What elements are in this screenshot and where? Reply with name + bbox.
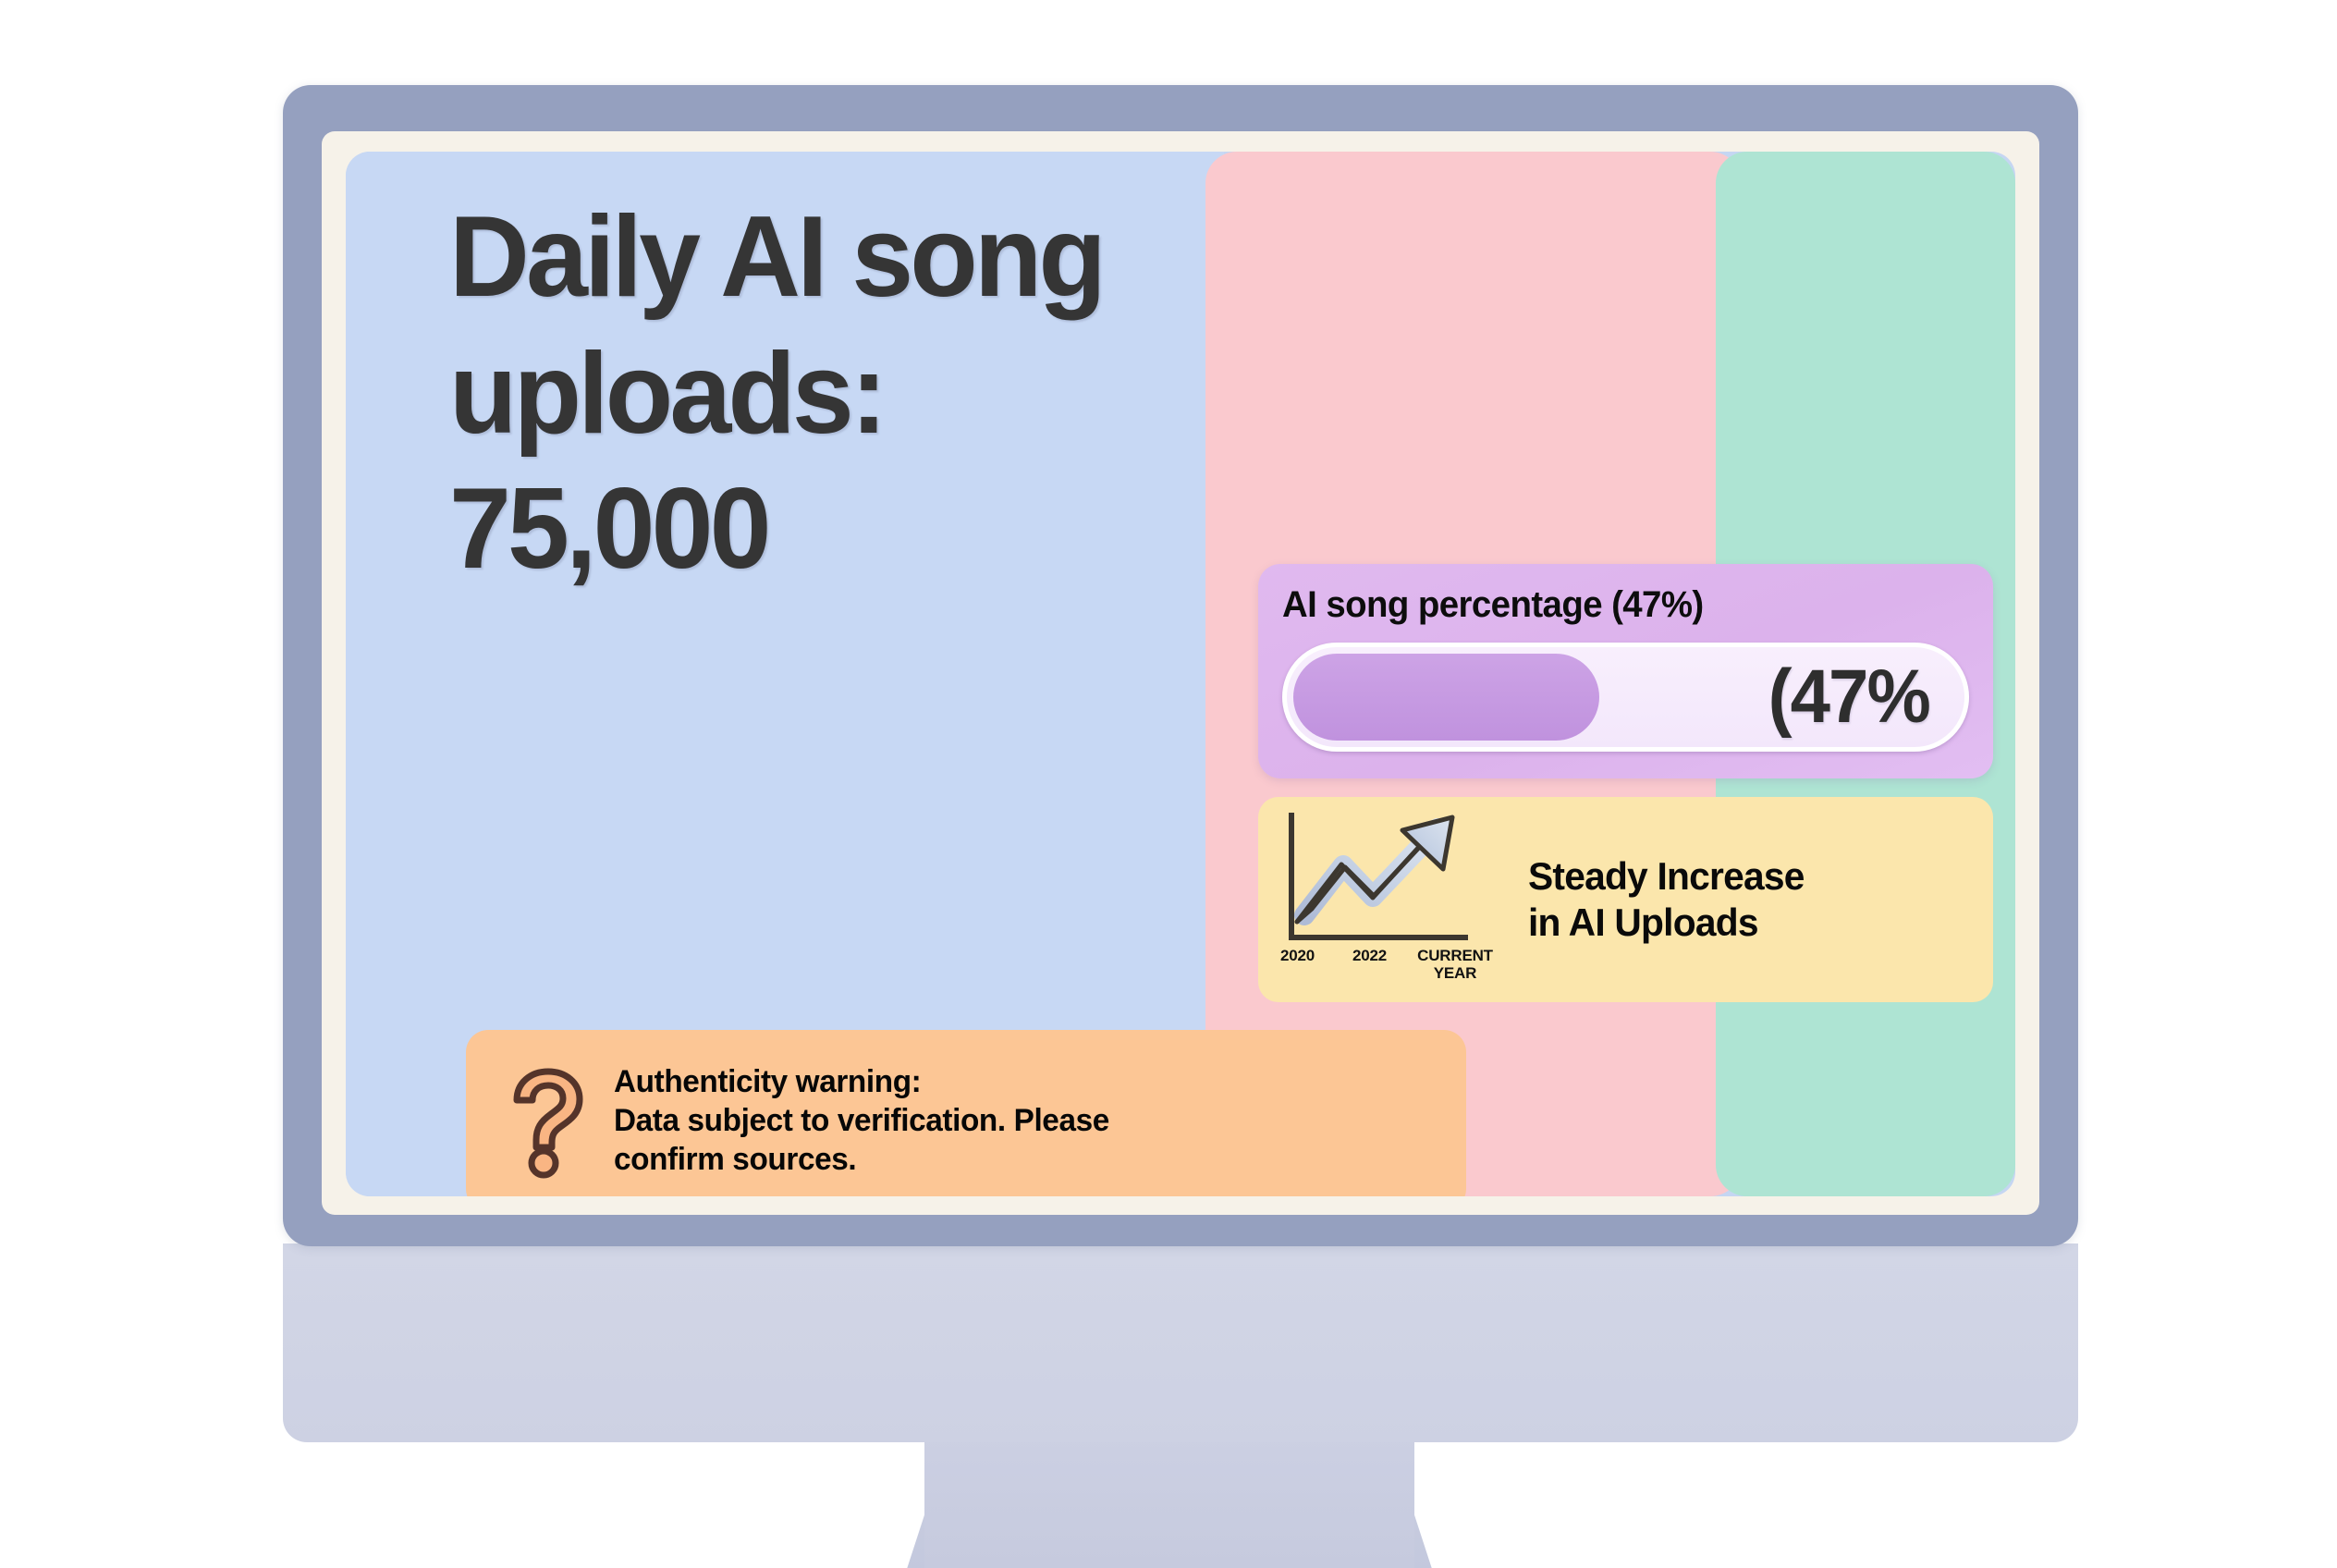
ai-song-percentage-label: AI song percentage (47%) bbox=[1282, 584, 1941, 626]
trend-heading: Steady Increase in AI Uploads bbox=[1528, 853, 1805, 946]
monitor-chin bbox=[283, 1243, 2078, 1442]
trend-heading-line-1: Steady Increase bbox=[1528, 853, 1805, 900]
progress-value-text: (47% bbox=[1768, 659, 1928, 735]
progress-fill bbox=[1293, 654, 1599, 741]
headline-line-1: Daily AI song bbox=[449, 200, 1346, 314]
monitor-stand-neck bbox=[924, 1431, 1414, 1568]
warning-title: Authenticity warning: bbox=[614, 1062, 1109, 1101]
trend-tick-current-year: CURRENT YEAR bbox=[1415, 947, 1495, 982]
trend-heading-line-2: in AI Uploads bbox=[1528, 900, 1805, 946]
warning-line-1: Data subject to verification. Please bbox=[614, 1101, 1109, 1140]
trend-axis-tick-labels: 2020 2022 CURRENT YEAR bbox=[1280, 947, 1495, 982]
trend-tick-current-year-line2: YEAR bbox=[1434, 964, 1476, 982]
ai-song-percentage-card: AI song percentage (47%) (47% bbox=[1258, 564, 1993, 778]
headline-line-2: uploads: bbox=[449, 337, 1346, 451]
monitor-inner-bezel: Daily AI song uploads: 75,000 AI song pe… bbox=[322, 131, 2039, 1215]
authenticity-warning-text: Authenticity warning: Data subject to ve… bbox=[614, 1062, 1109, 1179]
page-title: Daily AI song uploads: 75,000 bbox=[449, 200, 1374, 586]
trend-chart: 2020 2022 CURRENT YEAR bbox=[1280, 812, 1495, 987]
upward-trend-arrow-icon bbox=[1280, 812, 1495, 950]
question-mark-icon bbox=[510, 1066, 586, 1179]
headline-metric-value: 75,000 bbox=[449, 472, 1346, 586]
monitor-illustration: Daily AI song uploads: 75,000 AI song pe… bbox=[0, 0, 2337, 1568]
trend-tick-2022: 2022 bbox=[1352, 947, 1415, 982]
trend-card: 2020 2022 CURRENT YEAR Steady Increase i… bbox=[1258, 797, 1993, 1002]
trend-tick-current-year-line1: CURRENT bbox=[1417, 947, 1493, 964]
monitor-frame: Daily AI song uploads: 75,000 AI song pe… bbox=[283, 85, 2078, 1246]
authenticity-warning-banner: Authenticity warning: Data subject to ve… bbox=[466, 1030, 1466, 1196]
warning-line-2: confirm sources. bbox=[614, 1140, 1109, 1179]
ai-song-percentage-progressbar[interactable]: (47% bbox=[1282, 643, 1969, 752]
trend-tick-2020: 2020 bbox=[1280, 947, 1352, 982]
screen: Daily AI song uploads: 75,000 AI song pe… bbox=[346, 152, 2015, 1196]
